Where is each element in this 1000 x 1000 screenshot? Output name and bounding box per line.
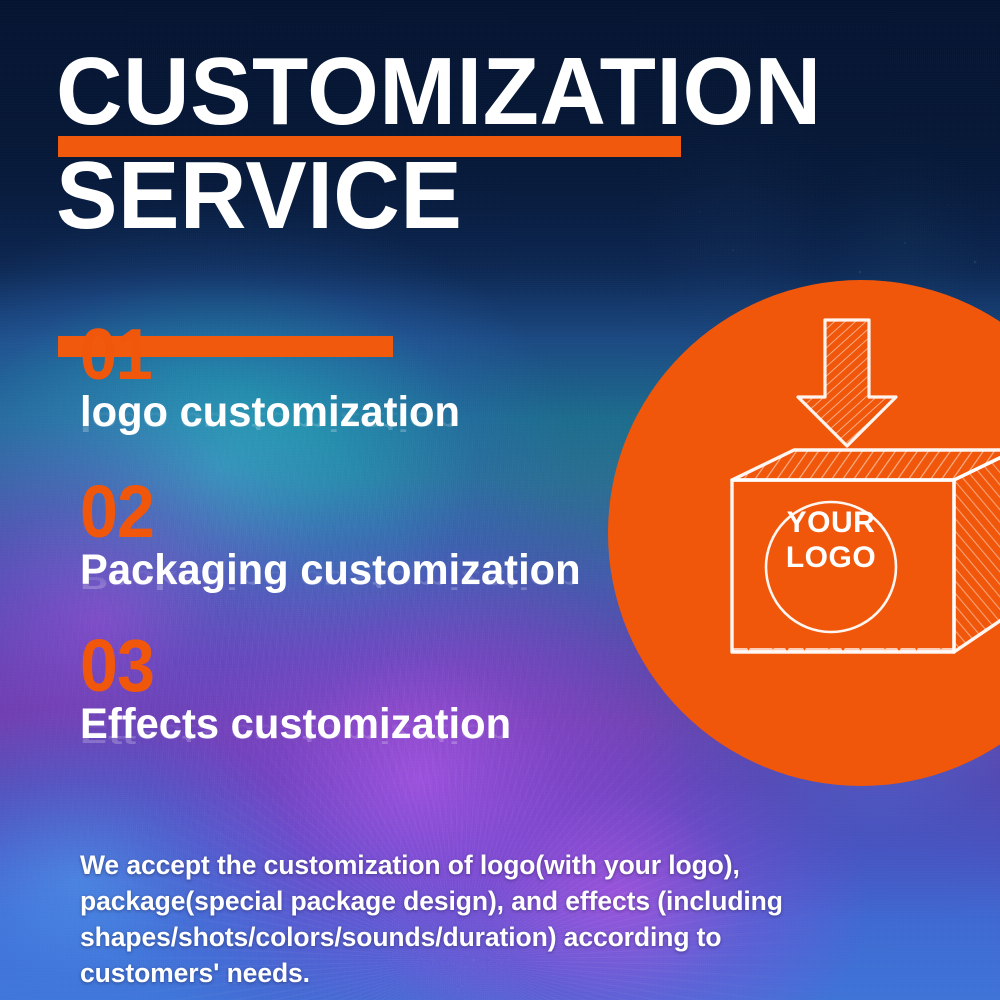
service-item-label: Effects customization [80,700,511,748]
service-item-03: 03 Effects customization Effects customi… [80,632,640,754]
service-item-label: Packaging customization [80,546,581,594]
service-item-label: logo customization [80,388,460,436]
your-logo-line-2: LOGO [760,541,902,576]
service-item-number: 03 [80,632,595,700]
service-item-label-wrap: logo customization logo customization [80,388,640,442]
page-title: CUSTOMIZATION SERVICE [56,44,756,236]
body-paragraph: We accept the customization of logo(with… [80,847,850,992]
title-row-2: SERVICE [56,140,756,236]
service-item-label-wrap: Packaging customization Packaging custom… [80,546,640,600]
your-logo-text: YOUR LOGO [760,506,902,576]
box-right-face [954,450,1000,652]
title-row-1: CUSTOMIZATION [56,44,756,140]
title-line-1: CUSTOMIZATION [56,44,728,140]
service-item-01: 01 logo customization logo customization [80,322,640,442]
customization-service-poster: CUSTOMIZATION SERVICE 01 logo customizat… [0,0,1000,1000]
service-item-number: 02 [80,478,595,546]
service-item-02: 02 Packaging customization Packaging cus… [80,478,640,600]
your-logo-line-1: YOUR [760,506,902,541]
orange-circle-badge: YOUR LOGO [608,280,1000,786]
service-item-label-wrap: Effects customization Effects customizat… [80,700,640,754]
title-line-2: SERVICE [56,148,728,244]
service-list: 01 logo customization logo customization… [80,322,640,782]
service-item-number: 01 [80,322,595,388]
arrow-down-icon [798,320,896,446]
